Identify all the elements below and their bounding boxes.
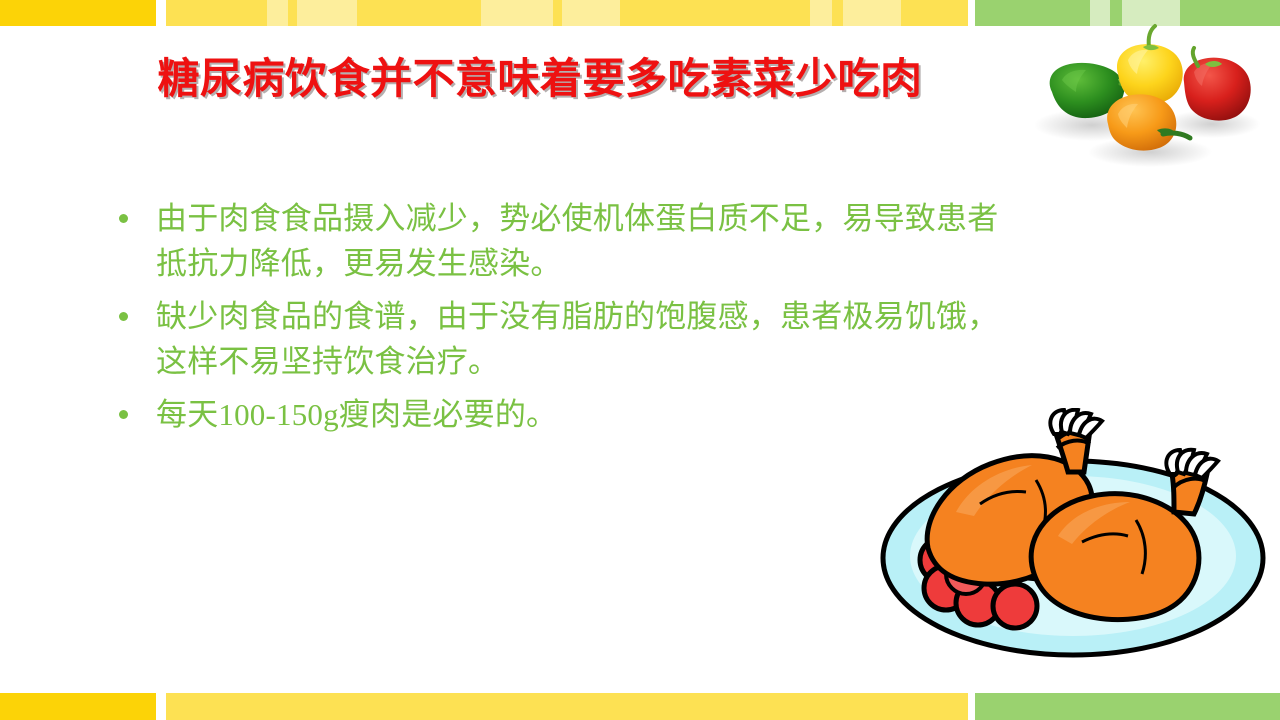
list-item: 由于肉食食品摄入减少，势必使机体蛋白质不足，易导致患者抵抗力降低，更易发生感染。 xyxy=(110,196,1010,286)
top-band-stripe-13 xyxy=(901,0,968,26)
red-pepper-icon xyxy=(1184,48,1251,121)
roast-chicken-clipart: nipic.com xyxy=(860,408,1280,670)
bottom-band-stripe-2 xyxy=(975,693,1280,720)
list-item-text: 由于肉食食品摄入减少，势必使机体蛋白质不足，易导致患者抵抗力降低，更易发生感染。 xyxy=(156,196,1010,286)
top-band-stripe-1 xyxy=(166,0,267,26)
top-band-stripe-8 xyxy=(562,0,620,26)
top-band-stripe-9 xyxy=(620,0,810,26)
drumstick-frill-icon xyxy=(1050,410,1102,438)
bottom-band-stripe-0 xyxy=(0,693,156,720)
top-band-stripe-3 xyxy=(288,0,297,26)
top-band-stripe-11 xyxy=(832,0,843,26)
drumstick-frill-icon xyxy=(1166,450,1218,478)
top-band-stripe-4 xyxy=(297,0,357,26)
presentation-slide: 糖尿病饮食并不意味着要多吃素菜少吃肉 由于肉食食品摄入减少，势必使机体蛋白质不足… xyxy=(0,0,1280,720)
top-band-stripe-0 xyxy=(0,0,156,26)
bell-peppers-photo xyxy=(1022,22,1280,172)
list-item: 缺少肉食品的食谱，由于没有脂肪的饱腹感，患者极易饥饿，这样不易坚持饮食治疗。 xyxy=(110,294,1010,384)
top-band-stripe-5 xyxy=(357,0,481,26)
slide-title: 糖尿病饮食并不意味着要多吃素菜少吃肉 xyxy=(60,53,1020,105)
bottom-band-stripe-1 xyxy=(166,693,968,720)
bullet-dot-icon xyxy=(119,410,128,419)
yellow-pepper-icon xyxy=(1117,26,1183,104)
top-band-stripe-7 xyxy=(553,0,562,26)
list-item-text: 缺少肉食品的食谱，由于没有脂肪的饱腹感，患者极易饥饿，这样不易坚持饮食治疗。 xyxy=(156,294,1010,384)
bullet-dot-icon xyxy=(119,312,128,321)
top-band-stripe-2 xyxy=(267,0,288,26)
top-band-stripe-6 xyxy=(481,0,553,26)
top-band-stripe-10 xyxy=(810,0,832,26)
bottom-decorative-band xyxy=(0,693,1280,720)
bullet-dot-icon xyxy=(119,214,128,223)
top-band-stripe-12 xyxy=(843,0,901,26)
